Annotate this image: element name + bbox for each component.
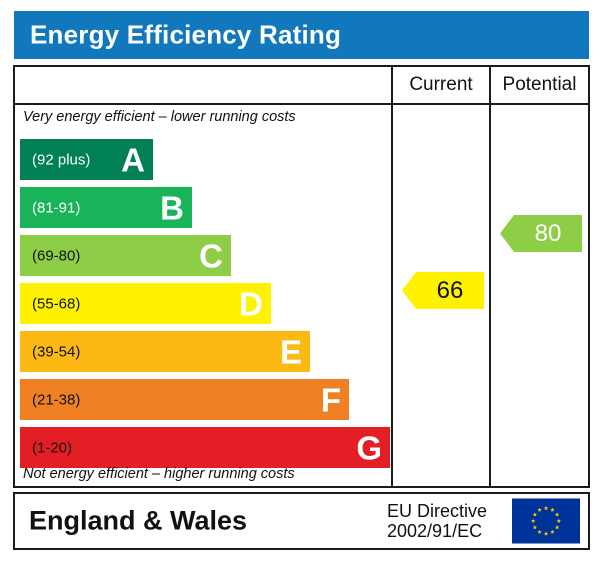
band-letter-a: A [121, 143, 145, 176]
band-letter-d: D [239, 287, 263, 320]
eu-directive-line2: 2002/91/EC [387, 521, 487, 541]
potential-rating-arrow: 80 [500, 215, 582, 252]
band-letter-b: B [160, 191, 184, 224]
band-range-c: (69-80) [32, 247, 80, 264]
column-header-current: Current [391, 67, 489, 103]
eu-flag-icon [512, 499, 580, 544]
region-label: England & Wales [29, 506, 247, 537]
band-letter-g: G [356, 431, 382, 464]
band-range-f: (21-38) [32, 391, 80, 408]
page-title: Energy Efficiency Rating [30, 20, 341, 51]
band-range-e: (39-54) [32, 343, 80, 360]
band-range-a: (92 plus) [32, 151, 90, 168]
band-bar-b: (81-91) B [20, 187, 192, 228]
column-header-row: Current Potential [15, 67, 588, 105]
current-rating-value: 66 [423, 277, 464, 305]
band-bar-e: (39-54) E [20, 331, 310, 372]
band-bar-c: (69-80) C [20, 235, 231, 276]
energy-rating-chart: Current Potential Very energy efficient … [13, 65, 590, 488]
eu-directive-line1: EU Directive [387, 501, 487, 521]
column-divider-current [391, 105, 393, 486]
header-banner: Energy Efficiency Rating [14, 11, 589, 59]
band-range-d: (55-68) [32, 295, 80, 312]
band-bar-d: (55-68) D [20, 283, 271, 324]
band-letter-f: F [321, 383, 341, 416]
band-range-b: (81-91) [32, 199, 80, 216]
note-very-efficient: Very energy efficient – lower running co… [23, 109, 296, 125]
band-bar-a: (92 plus) A [20, 139, 153, 180]
column-header-potential: Potential [489, 67, 588, 103]
column-divider-potential [489, 105, 491, 486]
band-letter-e: E [280, 335, 302, 368]
footer-bar: England & Wales EU Directive 2002/91/EC [13, 492, 590, 550]
potential-rating-value: 80 [521, 220, 562, 248]
note-not-efficient: Not energy efficient – higher running co… [23, 466, 295, 482]
band-range-g: (1-20) [32, 439, 72, 456]
band-bar-g: (1-20) G [20, 427, 390, 468]
eu-directive-label: EU Directive 2002/91/EC [387, 501, 487, 541]
band-bar-f: (21-38) F [20, 379, 349, 420]
efficiency-bands-area: Very energy efficient – lower running co… [15, 105, 391, 486]
band-letter-c: C [199, 239, 223, 272]
current-rating-arrow: 66 [402, 272, 484, 309]
